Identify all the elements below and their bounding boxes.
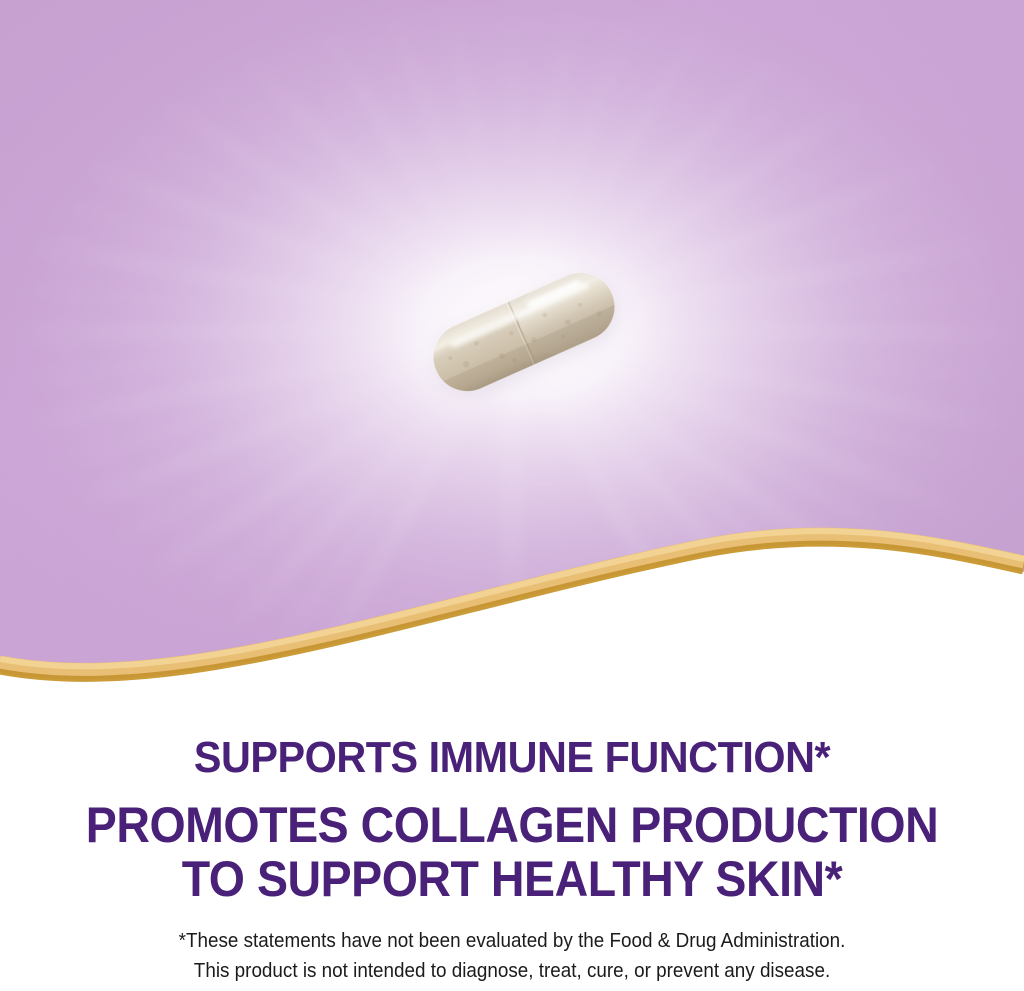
claim-line-immune: SUPPORTS IMMUNE FUNCTION*: [31, 736, 994, 780]
claim-line-skin: TO SUPPORT HEALTHY SKIN*: [36, 854, 988, 904]
disclaimer-line-1: *These statements have not been evaluate…: [41, 926, 983, 956]
fda-disclaimer: *These statements have not been evaluate…: [0, 926, 1024, 985]
hero-image: [0, 0, 1024, 700]
hero-illustration: [0, 0, 1024, 700]
headline-group: SUPPORTS IMMUNE FUNCTION* PROMOTES COLLA…: [0, 700, 1024, 904]
claim-line-collagen: PROMOTES COLLAGEN PRODUCTION: [36, 800, 988, 850]
disclaimer-line-2: This product is not intended to diagnose…: [41, 956, 983, 986]
claims-section: SUPPORTS IMMUNE FUNCTION* PROMOTES COLLA…: [0, 700, 1024, 991]
product-benefits-panel: SUPPORTS IMMUNE FUNCTION* PROMOTES COLLA…: [0, 0, 1024, 991]
